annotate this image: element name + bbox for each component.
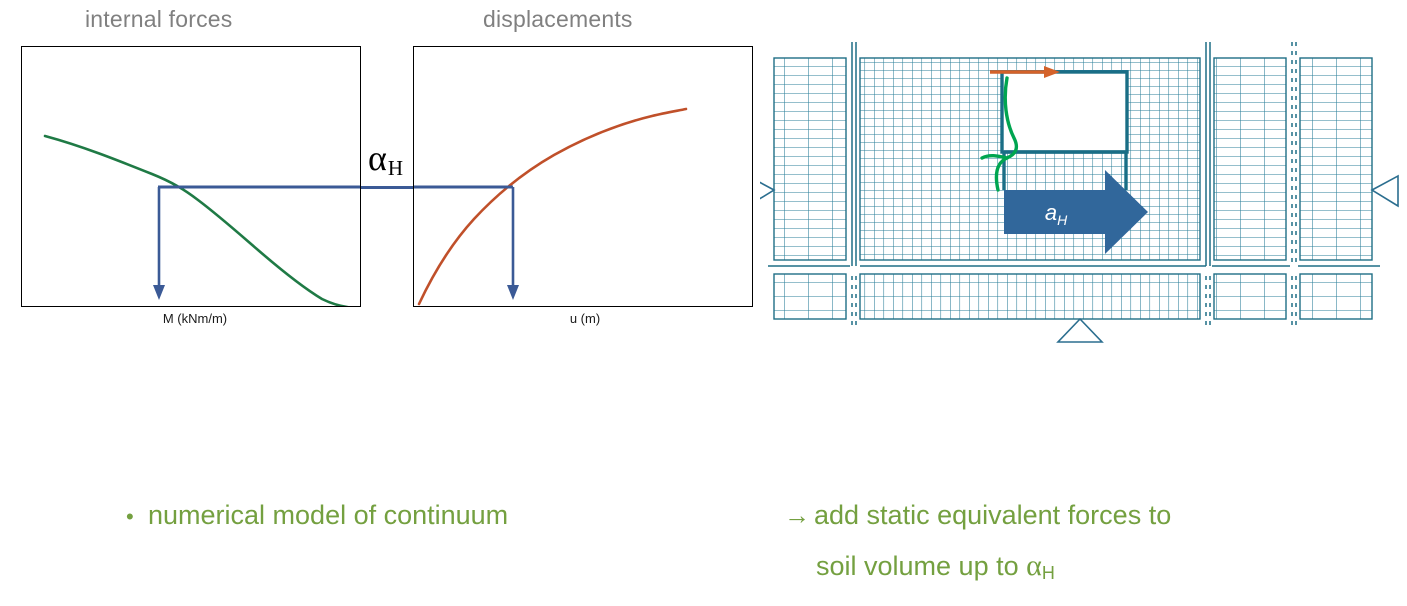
- bullet-add-forces-line2: soil volume up to αH: [816, 549, 1055, 583]
- slide-canvas: internal forces displacements M (kNm/m) …: [0, 0, 1407, 606]
- bullet-right-text-2: soil volume up to: [816, 551, 1026, 581]
- chart-displacements: [413, 46, 753, 307]
- axis-caption-moment: M (kNm/m): [115, 311, 275, 326]
- alpha-subscript: H: [388, 156, 403, 180]
- drop-arrow-head-right: [507, 285, 519, 300]
- right-arrow-icon: →: [784, 500, 814, 530]
- alpha-symbol-bullet: α: [1026, 549, 1042, 582]
- alpha-h-label: αH: [368, 140, 402, 176]
- roller-support-right: [1372, 176, 1398, 206]
- bullet-right-text-1: add static equivalent forces to: [814, 500, 1171, 530]
- mesh-region-far-right: [1300, 58, 1372, 319]
- curve-displacement: [419, 109, 686, 304]
- pin-support-bottom: [1058, 319, 1102, 342]
- chart-internal-forces: [21, 46, 361, 307]
- mesh-region-right: [1214, 58, 1286, 319]
- roller-support-left: [760, 176, 774, 206]
- fe-mesh-model: aH: [760, 30, 1400, 350]
- bullet-numerical-model: •numerical model of continuum: [126, 500, 508, 531]
- bullet-left-text: numerical model of continuum: [148, 500, 508, 530]
- chart-internal-forces-plot: [22, 47, 360, 306]
- mesh-region-left: [774, 58, 846, 319]
- bullet-marker: •: [126, 504, 148, 530]
- alpha-symbol: α: [368, 138, 387, 178]
- alpha-subscript-bullet: H: [1042, 563, 1055, 583]
- curve-bending-moment: [45, 136, 354, 306]
- panel-heading-displacements: displacements: [483, 6, 633, 33]
- alpha-level-connector: [361, 186, 413, 189]
- axis-caption-displacement: u (m): [510, 311, 660, 326]
- panel-heading-internal-forces: internal forces: [85, 6, 232, 33]
- drop-arrow-head-left: [153, 285, 165, 300]
- bullet-add-forces-line1: →add static equivalent forces to: [784, 500, 1171, 531]
- chart-displacements-plot: [414, 47, 752, 306]
